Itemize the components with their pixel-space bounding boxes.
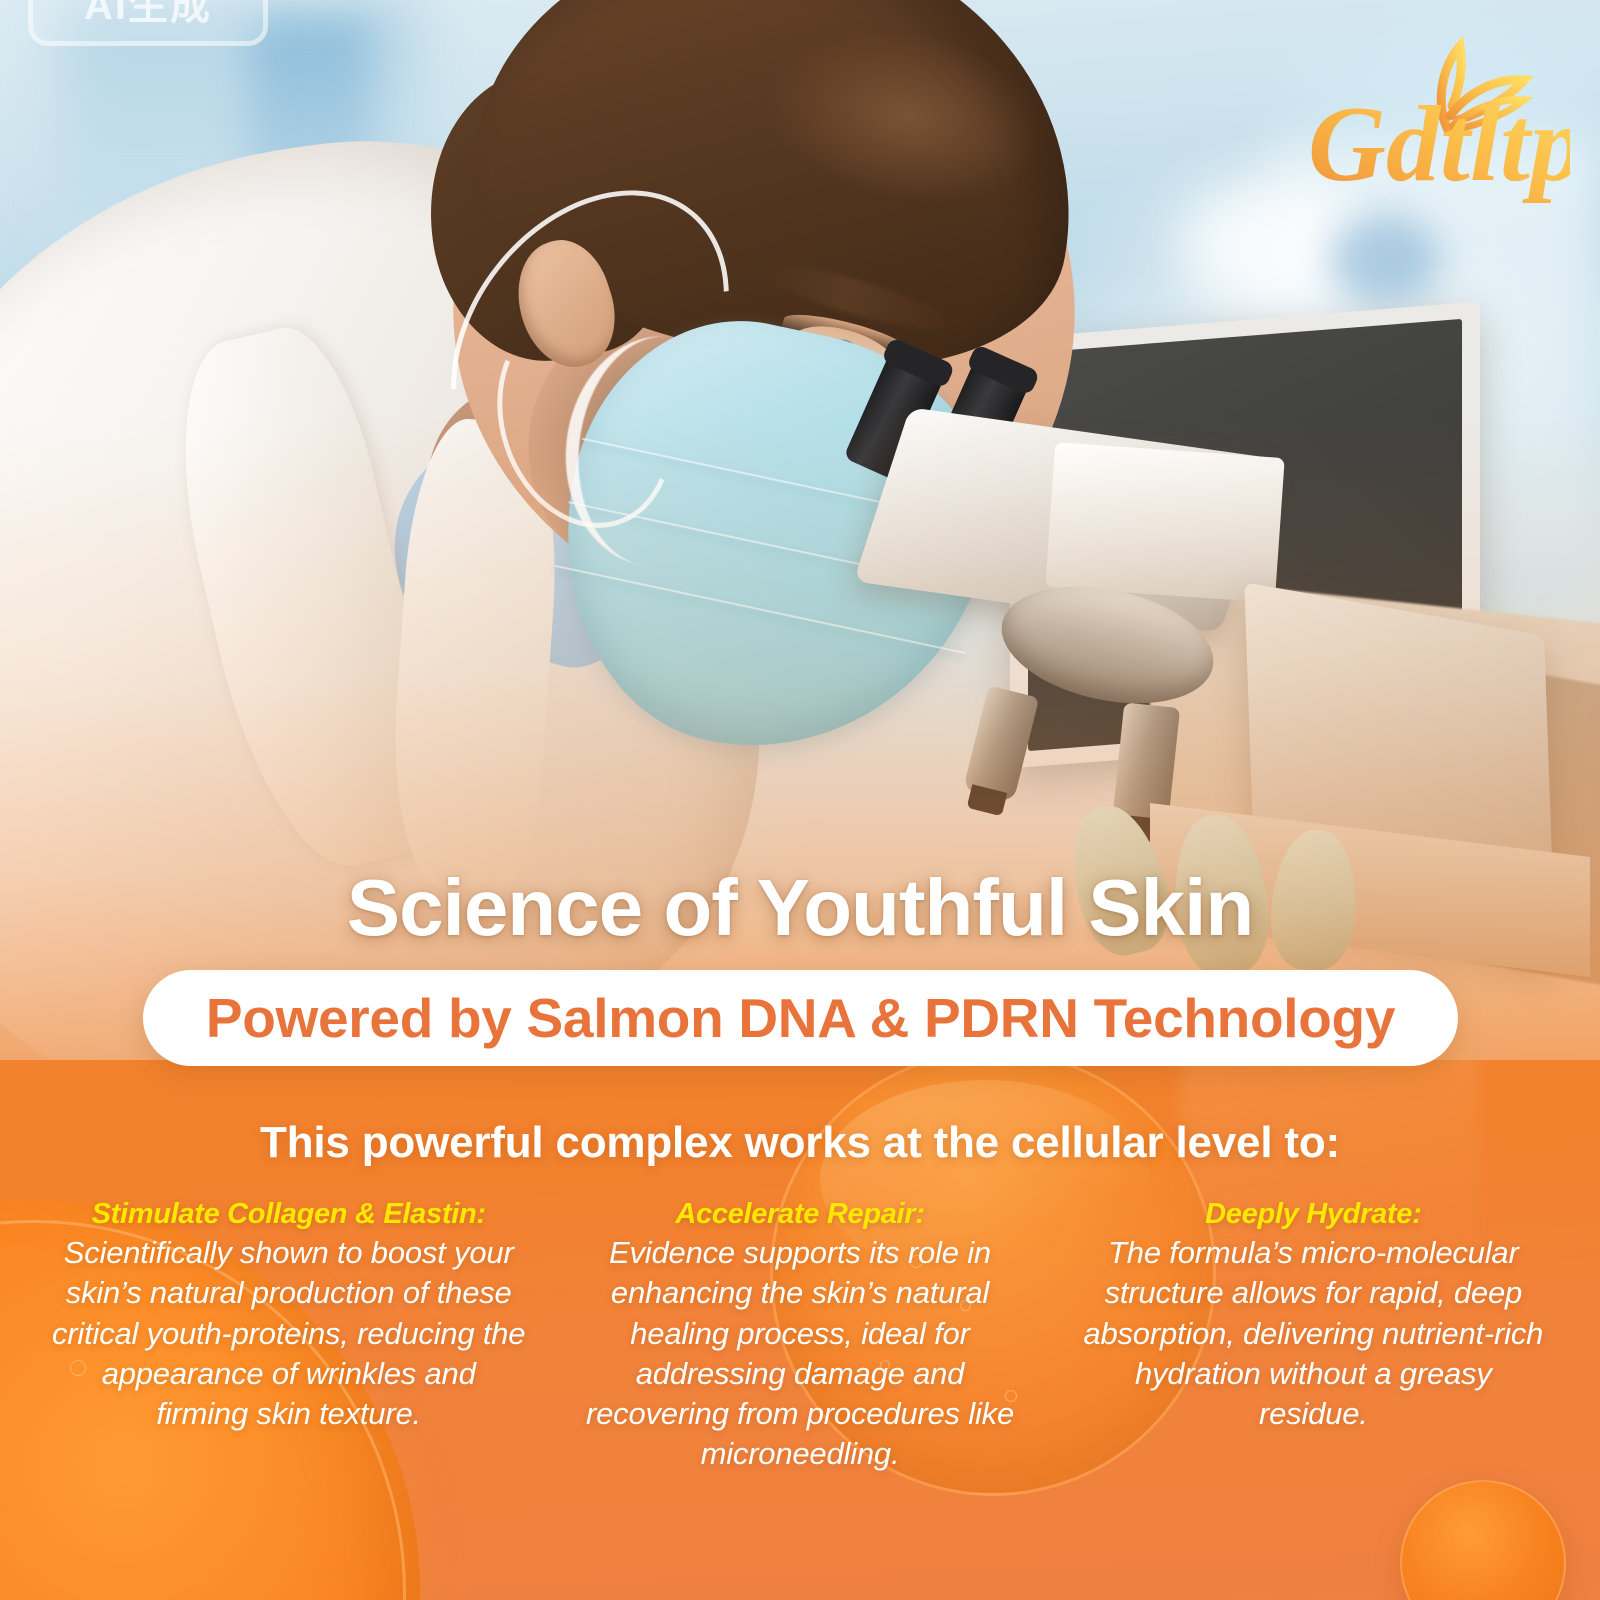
brand-logo[interactable]: Gdtltp	[1300, 30, 1570, 205]
petri-dish-right	[1400, 1480, 1566, 1600]
benefit-column: Accelerate Repair: Evidence supports its…	[553, 1198, 1046, 1475]
logo-wordmark: Gdtltp	[1308, 85, 1570, 204]
benefit-body: Scientifically shown to boost your skin’…	[52, 1233, 525, 1434]
benefit-column: Stimulate Collagen & Elastin: Scientific…	[30, 1198, 533, 1475]
page-title: Science of Youthful Skin	[0, 862, 1600, 954]
benefit-title: Accelerate Repair:	[563, 1198, 1036, 1231]
lab-bokeh-blue	[1330, 215, 1440, 305]
tagline-pill: Powered by Salmon DNA & PDRN Technology	[143, 970, 1458, 1066]
benefit-title: Deeply Hydrate:	[1077, 1198, 1550, 1231]
benefits-columns: Stimulate Collagen & Elastin: Scientific…	[30, 1198, 1570, 1475]
ai-generated-watermark: AI生成	[28, 0, 268, 46]
tagline-text: Powered by Salmon DNA & PDRN Technology	[206, 986, 1395, 1050]
benefit-title: Stimulate Collagen & Elastin:	[52, 1198, 525, 1231]
benefit-body: The formula’s micro-molecular structure …	[1077, 1233, 1550, 1434]
section-subheading: This powerful complex works at the cellu…	[0, 1118, 1600, 1168]
marketing-poster: AI生成 Gdtltp Science of Youthful Skin Pow	[0, 0, 1600, 1600]
benefit-body: Evidence supports its role in enhancing …	[563, 1233, 1036, 1475]
benefit-column: Deeply Hydrate: The formula’s micro-mole…	[1067, 1198, 1570, 1475]
microscope-body	[1045, 442, 1285, 603]
